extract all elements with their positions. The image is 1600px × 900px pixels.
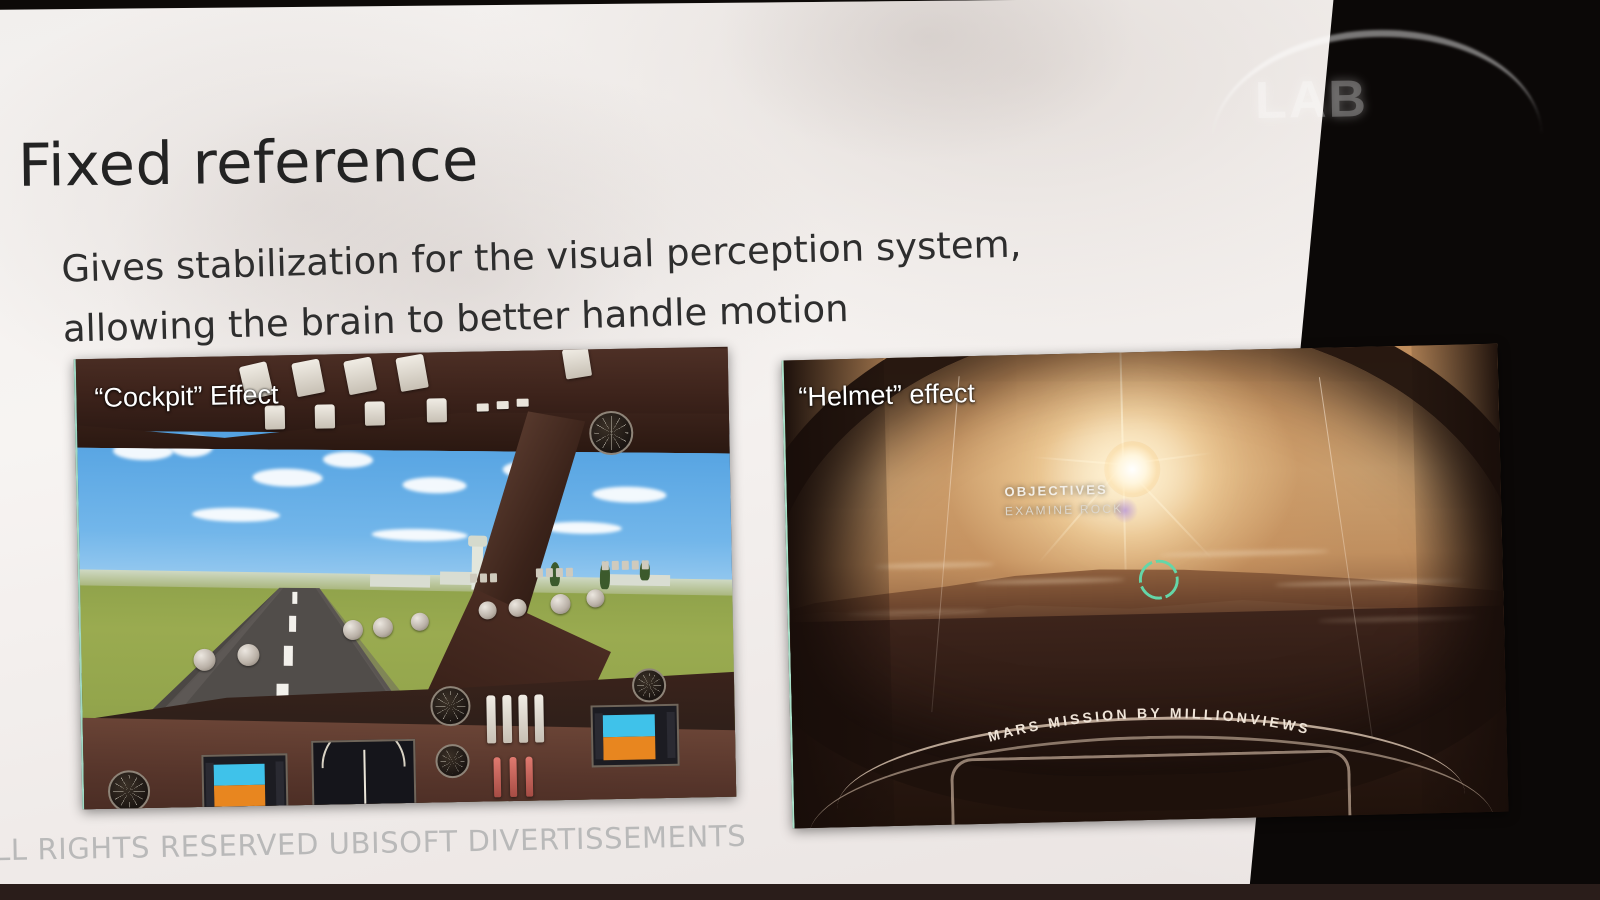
overhead-switch [517,399,529,407]
fuel-lever [493,757,501,797]
room-bottom-edge [0,884,1600,900]
panel-indicator-row [536,568,573,578]
primary-flight-display [201,753,288,809]
fuel-lever [509,757,517,797]
throttle-lever [534,694,544,742]
panel-indicator-row [470,573,497,583]
throttle-lever [518,695,528,743]
figure-cockpit: “Cockpit” Effect [74,347,737,809]
overhead-lever [562,347,592,380]
slide-photo: LAB Fixed reference Gives stabilization … [0,0,1600,900]
slide-body-text: Gives stabilization for the visual perce… [61,215,1024,358]
figure-caption-helmet: “Helmet” effect [798,378,975,413]
overhead-switch [477,403,489,411]
overhead-switch [315,404,335,428]
hud-objectives: OBJECTIVES EXAMINE ROCK [1004,481,1123,518]
mars-foreground [782,605,1509,828]
page-title: Fixed reference [18,125,480,200]
standby-gauge [108,770,151,809]
figure-helmet: OBJECTIVES EXAMINE ROCK MARS MISSION BY … [782,344,1509,829]
ghost-watermark-logo: LAB [1254,69,1368,131]
hud-objectives-title: OBJECTIVES [1004,481,1123,499]
navigation-display [311,739,416,809]
airport-building [600,574,670,586]
overhead-lever [395,354,429,392]
overhead-switch [497,401,509,409]
throttle-lever [486,695,496,743]
hud-objective-task: EXAMINE ROCK [1005,501,1124,518]
throttle-lever [502,695,512,743]
overhead-switch [427,398,447,422]
figure-caption-cockpit: “Cockpit” Effect [94,379,279,414]
primary-flight-display [590,704,679,768]
airport-building [370,575,430,588]
fuel-lever [525,757,533,797]
panel-indicator-row [602,560,649,570]
overhead-switch [365,401,385,425]
